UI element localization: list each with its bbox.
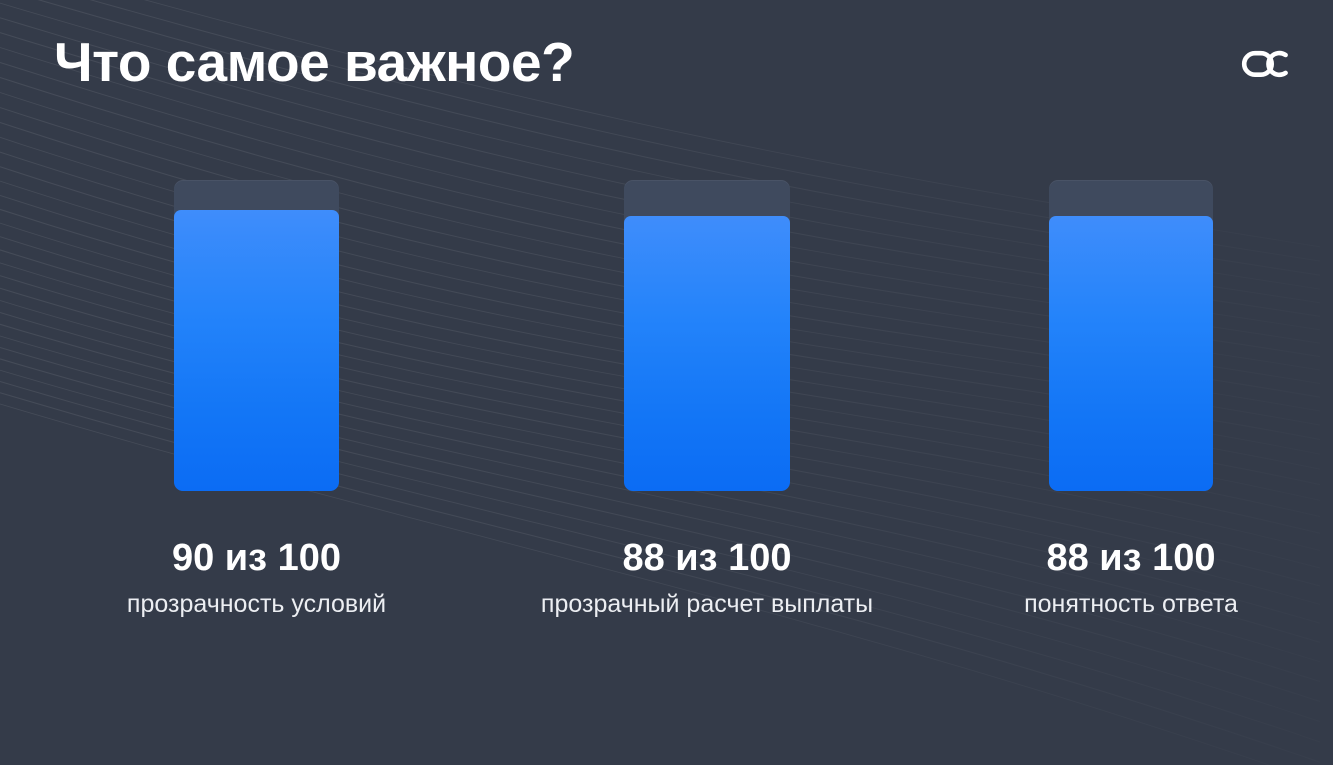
metric-label-2: прозрачный расчет выплаты [541,590,873,619]
chain-link-icon [1241,47,1293,81]
metric-value-3: 88 из 100 [1046,537,1215,580]
brand-logo [1239,44,1295,84]
metric-value-1: 90 из 100 [172,537,341,580]
metric-column-3: 88 из 100 понятность ответа [1049,180,1213,619]
bar-chart: 90 из 100 прозрачность условий 88 из 100… [0,180,1333,700]
bar-fill-2 [624,216,790,491]
metric-column-2: 88 из 100 прозрачный расчет выплаты [624,180,790,619]
metric-label-3: понятность ответа [1024,590,1238,619]
bar-track-2 [624,180,790,491]
bar-fill-1 [174,210,339,491]
slide-root: Что самое важное? 90 из 100 прозрачность… [0,0,1333,765]
bar-track-3 [1049,180,1213,491]
slide-header: Что самое важное? [0,0,1333,140]
metric-label-1: прозрачность условий [127,590,386,619]
bar-track-1 [174,180,339,491]
metric-column-1: 90 из 100 прозрачность условий [174,180,339,619]
bar-fill-3 [1049,216,1213,491]
metric-value-2: 88 из 100 [622,537,791,580]
page-title: Что самое важное? [54,34,574,92]
